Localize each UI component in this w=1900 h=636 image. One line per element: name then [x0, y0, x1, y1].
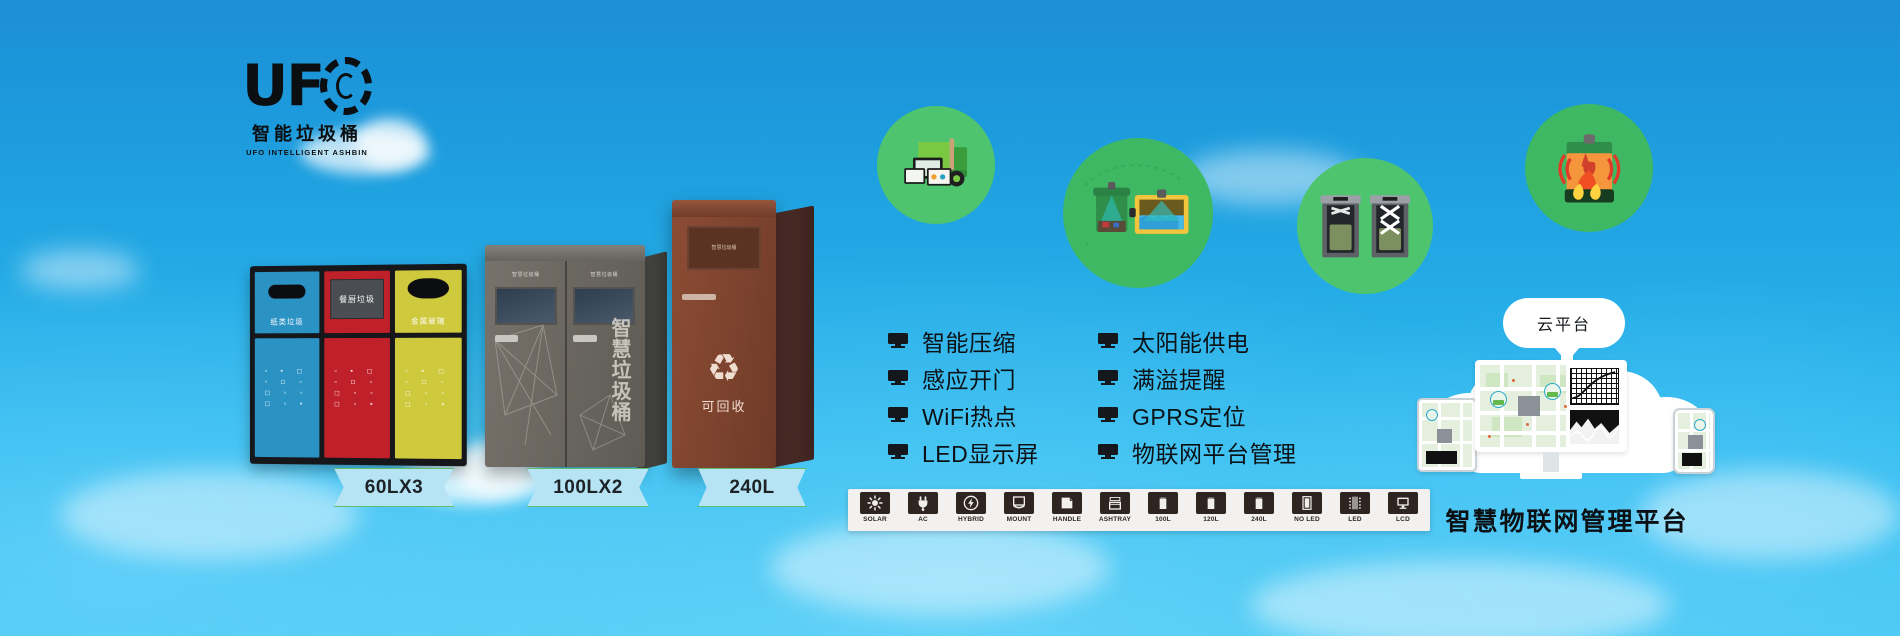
- feature-circle-fleet-monitoring: [877, 106, 995, 224]
- monitor-icon: [888, 370, 908, 385]
- waste-art-metal-glass: ▫ ▪ ◻ ▫ ◽ ▫ ◻ ▫ ▫ ◻ ▫ ▪: [395, 338, 462, 459]
- cloud-decoration: [770, 520, 1110, 615]
- spec-caption: LED: [1348, 516, 1362, 523]
- bin-panel-label: 智慧垃圾桶: [711, 244, 736, 252]
- led-panel-icon: [1340, 492, 1370, 514]
- ashtray-icon: [1100, 492, 1130, 514]
- mount-icon: [1004, 492, 1034, 514]
- feature-circle-waste-compaction: [1297, 158, 1433, 294]
- capacity-badge-100lx2: 100LX2: [527, 468, 649, 507]
- feature-label: LED显示屏: [922, 435, 1039, 469]
- feature-circle-fill-level-sensing: [1063, 138, 1213, 288]
- product-smart-dual-bin: 智慧垃圾桶 智慧垃圾桶 智慧垃圾桶: [485, 245, 645, 467]
- spec-solar: SOLAR: [853, 492, 897, 528]
- growth-curve-icon: [1571, 369, 1618, 401]
- smartphone-device: [1673, 408, 1715, 474]
- product-three-compartment-bin: 纸类垃圾 ▫ ▪ ◻ ▫ ◽ ▫ ◻ ▫ ▫ ◻ ▫ ▪ 餐厨垃圾 ▫ ▪ ◻ …: [248, 265, 466, 465]
- handle-icon: [1052, 492, 1082, 514]
- spec-caption: 240L: [1251, 516, 1267, 523]
- map-view: [1480, 365, 1566, 447]
- capacity-badge-240l: 240L: [698, 468, 806, 507]
- bin-compartment-kitchen: 餐厨垃圾 ▫ ▪ ◻ ▫ ◽ ▫ ◻ ▫ ▫ ◻ ▫ ▪: [324, 271, 390, 459]
- spec-caption: SOLAR: [863, 516, 887, 523]
- analytics-view: [1566, 365, 1622, 447]
- compartment-label: 餐厨垃圾: [339, 293, 375, 304]
- monitor-icon: [1098, 370, 1118, 385]
- feature-list-column-2: 太阳能供电 满溢提醒 GPRS定位 物联网平台管理: [1098, 322, 1297, 470]
- feature-item: 太阳能供电: [1098, 322, 1297, 359]
- bin-display-panel: 智慧垃圾桶: [687, 226, 762, 270]
- feature-label: WiFi热点: [922, 398, 1017, 432]
- brand-name-cn: 智能垃圾桶: [242, 120, 372, 146]
- platform-title: 智慧物联网管理平台: [1417, 502, 1717, 538]
- brand-logo: UF 智能垃圾桶 UFO INTELLIGENT ASHBIN: [242, 55, 372, 157]
- skyline-chart-icon: [1570, 410, 1619, 445]
- ufo-ring-icon: [320, 57, 372, 115]
- feature-label: 物联网平台管理: [1132, 435, 1297, 469]
- spec-caption: MOUNT: [1007, 516, 1032, 523]
- logo-letters: UF: [242, 58, 323, 115]
- waste-slot-icon: [268, 284, 305, 298]
- promo-banner: UF 智能垃圾桶 UFO INTELLIGENT ASHBIN 纸类垃圾 ▫ ▪…: [0, 0, 1900, 636]
- feature-item: LED显示屏: [888, 433, 1039, 470]
- feature-item: GPRS定位: [1098, 396, 1297, 433]
- cloud-decoration: [1250, 560, 1670, 636]
- waste-art-kitchen: ▫ ▪ ◻ ▫ ◽ ▫ ◻ ▫ ▫ ◻ ▫ ▪: [324, 338, 390, 458]
- plug-icon: [908, 492, 938, 514]
- spec-caption: NO LED: [1294, 516, 1320, 523]
- spec-caption: HYBRID: [958, 516, 984, 523]
- cloud-decoration: [20, 250, 140, 290]
- monitor-icon: [1098, 444, 1118, 459]
- monitor-icon: [1098, 407, 1118, 422]
- spec-no-led: NO LED: [1285, 492, 1329, 528]
- monitor-icon: [888, 407, 908, 422]
- feature-item: WiFi热点: [888, 396, 1039, 433]
- compactor-bins-icon: [1315, 176, 1416, 277]
- feature-label: 太阳能供电: [1132, 324, 1250, 358]
- feature-item: 感应开门: [888, 359, 1039, 396]
- desktop-monitor: [1475, 360, 1627, 479]
- spec-ac: AC: [901, 492, 945, 528]
- spec-240l: 240L: [1237, 492, 1281, 528]
- feature-circle-fire-alarm: [1525, 104, 1653, 232]
- polygon-graphic: [485, 245, 645, 467]
- garbage-truck-icon: [892, 121, 979, 208]
- compartment-label: 纸类垃圾: [255, 316, 320, 327]
- tablet-device: [1417, 398, 1477, 472]
- bin-compartment-paper: 纸类垃圾 ▫ ▪ ◻ ▫ ◽ ▫ ◻ ▫ ▫ ◻ ▫ ▪: [255, 271, 320, 457]
- feature-item: 智能压缩: [888, 322, 1039, 359]
- spec-120l: 120L: [1189, 492, 1233, 528]
- spec-caption: ASHTRAY: [1099, 516, 1131, 523]
- bin-icon: [1244, 492, 1274, 514]
- feature-item: 满溢提醒: [1098, 359, 1297, 396]
- spec-100l: 100L: [1141, 492, 1185, 528]
- cloud-platform-badge: 云平台: [1503, 298, 1625, 348]
- cloud-platform-label: 云平台: [1537, 311, 1591, 335]
- cloud-decoration: [60, 470, 360, 560]
- feature-list-column-1: 智能压缩 感应开门 WiFi热点 LED显示屏: [888, 322, 1039, 470]
- spec-handle: HANDLE: [1045, 492, 1089, 528]
- product-recycle-bin-240: 智慧垃圾桶 ♻ 可回收: [672, 200, 776, 468]
- feature-item: 物联网平台管理: [1098, 433, 1297, 470]
- spec-caption: 100L: [1155, 516, 1171, 523]
- waste-art-paper: ▫ ▪ ◻ ▫ ◽ ▫ ◻ ▫ ▫ ◻ ▫ ▪: [255, 338, 320, 457]
- iot-platform-illustration: 云平台: [1417, 300, 1717, 545]
- sun-icon: [860, 492, 890, 514]
- recycle-symbol-icon: ♻: [672, 350, 776, 388]
- waste-slot-icon: [408, 278, 449, 299]
- bin-handle-icon: [682, 294, 715, 300]
- lightning-icon: [956, 492, 986, 514]
- monitor-icon: [888, 333, 908, 348]
- capacity-badge-60lx3: 60LX3: [334, 468, 454, 507]
- bin-icon: [1196, 492, 1226, 514]
- bin-icon: [1148, 492, 1178, 514]
- spec-ashtray: ASHTRAY: [1093, 492, 1137, 528]
- monitor-icon: [1098, 333, 1118, 348]
- feature-label: 智能压缩: [922, 324, 1016, 358]
- spec-caption: AC: [918, 516, 928, 523]
- blank-panel-icon: [1292, 492, 1322, 514]
- feature-label: GPRS定位: [1132, 398, 1246, 432]
- spec-led: LED: [1333, 492, 1377, 528]
- lcd-screen-icon: [1388, 492, 1418, 514]
- spec-hybrid: HYBRID: [949, 492, 993, 528]
- bin-sensor-icon: [1083, 158, 1194, 269]
- spec-mount: MOUNT: [997, 492, 1041, 528]
- brand-name-en: UFO INTELLIGENT ASHBIN: [242, 148, 372, 157]
- spec-icon-strip: SOLAR AC HYBRID MOUNT: [848, 489, 1430, 531]
- feature-label: 感应开门: [922, 361, 1016, 395]
- feature-label: 满溢提醒: [1132, 361, 1226, 395]
- spec-caption: LCD: [1396, 516, 1410, 523]
- monitor-icon: [888, 444, 908, 459]
- recycle-label: 可回收: [672, 396, 776, 415]
- spec-caption: 120L: [1203, 516, 1219, 523]
- bin-compartment-metal-glass: 金属玻璃 ▫ ▪ ◻ ▫ ◽ ▫ ◻ ▫ ▫ ◻ ▫ ▪: [395, 270, 462, 459]
- spec-caption: HANDLE: [1053, 516, 1081, 523]
- bin-fire-alarm-icon: [1542, 121, 1637, 216]
- compartment-label: 金属玻璃: [395, 315, 462, 326]
